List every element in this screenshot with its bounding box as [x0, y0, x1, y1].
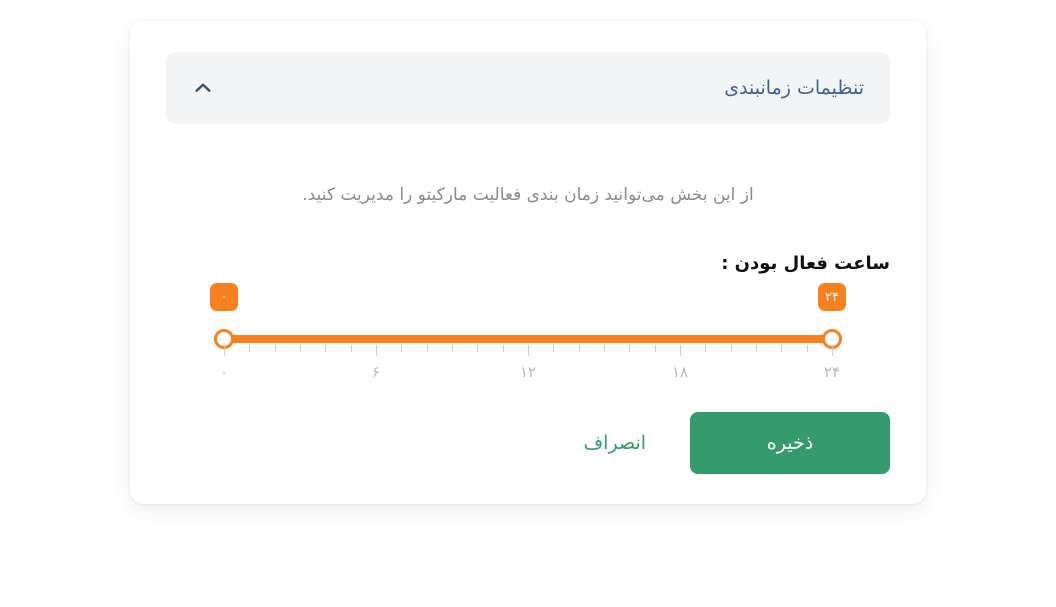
slider-tick: [604, 345, 605, 352]
slider-tick-labels: ۰۶۱۲۱۸۲۴: [224, 363, 832, 387]
slider-tick: [655, 345, 656, 352]
slider-tick-label: ۱۲: [520, 363, 536, 381]
active-hours-label: ساعت فعال بودن :: [721, 253, 890, 274]
slider-tick: [351, 345, 352, 352]
chevron-up-icon[interactable]: [192, 77, 214, 99]
slider-tick: [579, 345, 580, 352]
slider-tick: [325, 345, 326, 352]
slider-tick-label: ۱۸: [672, 363, 688, 381]
slider-tick: [553, 345, 554, 352]
slider-tick: [503, 345, 504, 352]
slider-tooltip-start: ۰: [210, 283, 238, 311]
slider-tick: [680, 345, 681, 356]
page-title: تنظیمات زمانبندی: [724, 79, 864, 98]
slider-tick: [224, 345, 225, 356]
slider-track-wrap[interactable]: ۰ ۲۴: [224, 335, 832, 345]
slider-tick: [756, 345, 757, 352]
slider-tick: [629, 345, 630, 352]
slider-tick: [376, 345, 377, 356]
slider-tick: [781, 345, 782, 352]
slider-tick: [705, 345, 706, 352]
cancel-button[interactable]: انصراف: [569, 422, 660, 464]
slider-selected-range: [224, 335, 832, 343]
slider-tick: [528, 345, 529, 356]
settings-card: تنظیمات زمانبندی از این بخش می‌توانید زم…: [130, 21, 926, 504]
scheduling-settings-header[interactable]: تنظیمات زمانبندی: [166, 52, 890, 124]
slider-tick-label: ۲۴: [824, 363, 840, 381]
slider-tick: [275, 345, 276, 352]
slider-tooltip-end: ۲۴: [818, 283, 846, 311]
slider-tick-label: ۰: [220, 363, 228, 381]
slider-tick: [401, 345, 402, 352]
panel-description: از این بخش می‌توانید زمان بندی فعالیت ما…: [166, 181, 890, 210]
slider-tick: [452, 345, 453, 352]
slider-tick: [731, 345, 732, 352]
page-root: تنظیمات زمانبندی از این بخش می‌توانید زم…: [0, 0, 1056, 607]
slider-tick: [300, 345, 301, 352]
slider-tick: [832, 345, 833, 356]
save-button[interactable]: ذخیره: [690, 412, 890, 474]
form-actions: ذخیره انصراف: [166, 412, 890, 474]
slider-tick: [807, 345, 808, 352]
slider-ticks: [224, 345, 832, 357]
slider-tick: [249, 345, 250, 352]
slider-tick: [427, 345, 428, 352]
slider-tick: [477, 345, 478, 352]
active-hours-slider[interactable]: ۰ ۲۴ ۰۶۱۲۱۸۲۴: [166, 289, 890, 399]
slider-tick-label: ۶: [372, 363, 380, 381]
